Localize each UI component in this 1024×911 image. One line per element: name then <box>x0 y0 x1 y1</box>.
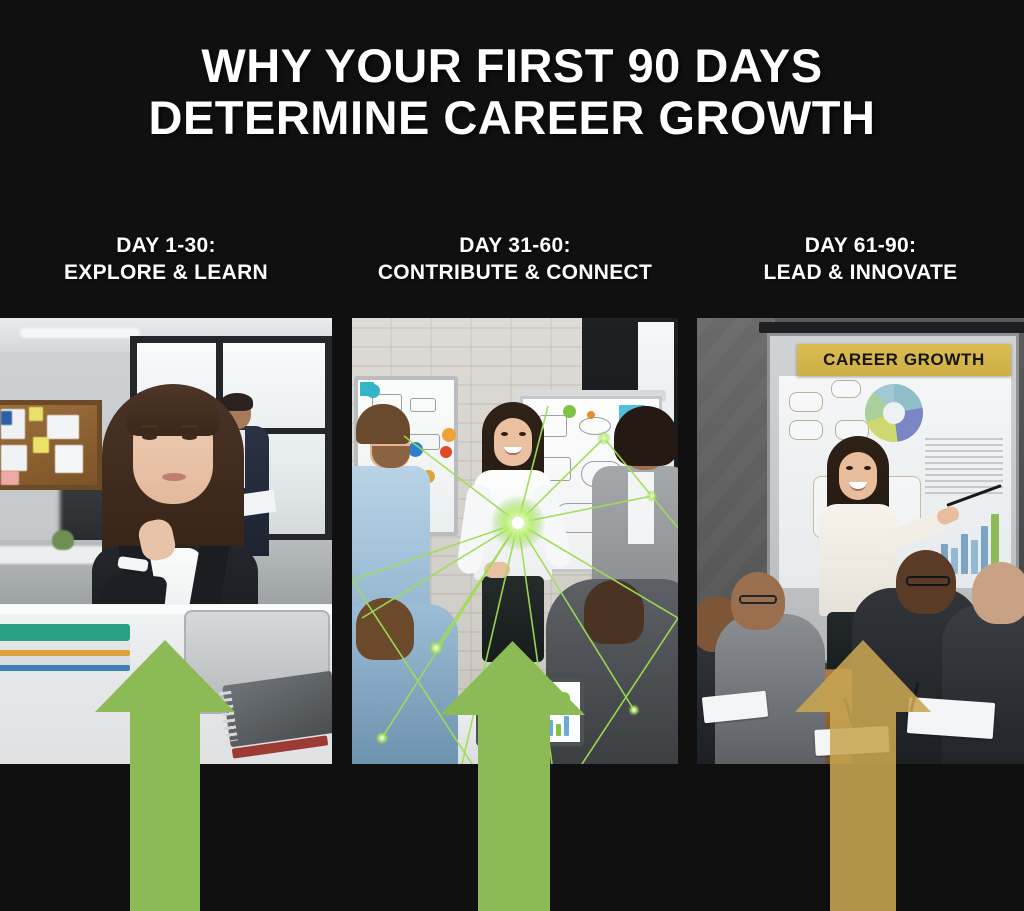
stage-2-heading: DAY 31-60: CONTRIBUTE & CONNECT <box>352 232 678 286</box>
stage-1-heading-line-2: EXPLORE & LEARN <box>0 259 332 286</box>
pinned-paper <box>47 415 79 439</box>
page-title: WHY YOUR FIRST 90 DAYS DETERMINE CAREER … <box>0 40 1024 144</box>
stage-headings: DAY 1-30: EXPLORE & LEARN DAY 31-60: CON… <box>0 232 1024 302</box>
sticky-note-pink <box>1 471 19 485</box>
title-line-1: WHY YOUR FIRST 90 DAYS <box>0 40 1024 92</box>
leader-eye-left <box>846 466 853 470</box>
panel-gutter-2 <box>678 318 697 764</box>
stage-2-heading-line-1: DAY 31-60: <box>352 232 678 259</box>
leader-eye-right <box>864 466 871 470</box>
presenter-hand <box>484 562 510 578</box>
book-teal <box>0 624 130 641</box>
infographic-poster: WHY YOUR FIRST 90 DAYS DETERMINE CAREER … <box>0 0 1024 911</box>
attendee-right-glasses-icon <box>906 576 950 586</box>
attendee-far-right-head <box>972 562 1024 624</box>
presenter-face <box>494 418 532 466</box>
attendee-far-right <box>942 604 1024 764</box>
sticky-note-yellow <box>33 437 49 453</box>
woman-eye-right <box>182 434 197 440</box>
projector-screen-housing <box>759 322 1024 333</box>
stage-3-heading-line-2: LEAD & INNOVATE <box>697 259 1024 286</box>
colleague-right-top <box>628 472 654 544</box>
ceiling-light-icon <box>20 328 140 338</box>
seated-colleague-right-head <box>584 580 644 644</box>
pinned-paper <box>55 445 83 473</box>
slide-diagram-box <box>831 380 861 398</box>
woman-eyebrow-left <box>141 425 158 428</box>
sticky-note-yellow <box>29 407 43 421</box>
slide-pie-chart-hole <box>883 402 905 424</box>
presenter-eye-left <box>501 432 508 436</box>
slide-diagram-box <box>789 392 823 412</box>
stage-2-growth-arrow <box>440 641 585 911</box>
colleague-right-hair <box>614 406 678 466</box>
woman-lips <box>162 473 186 481</box>
panel-gutter-1 <box>332 318 352 764</box>
career-growth-banner-label: CAREER GROWTH <box>823 350 985 370</box>
stage-2-heading-line-2: CONTRIBUTE & CONNECT <box>352 259 678 286</box>
woman-eyebrow-right <box>181 425 198 428</box>
magnet-green <box>563 405 576 418</box>
slide-bar <box>971 540 978 574</box>
stage-3-growth-arrow <box>795 640 931 911</box>
magnet-cyan <box>366 384 380 398</box>
stage-3-heading-line-1: DAY 61-90: <box>697 232 1024 259</box>
colleague-left <box>352 404 434 624</box>
leader-face <box>839 452 877 500</box>
title-line-2: DETERMINE CAREER GROWTH <box>0 92 1024 144</box>
woman-fringe <box>126 386 220 436</box>
stage-1-heading: DAY 1-30: EXPLORE & LEARN <box>0 232 332 286</box>
magnet-red <box>440 446 452 458</box>
pinned-chart <box>1 411 12 425</box>
colleague-left-hair <box>356 404 410 444</box>
stage-1-growth-arrow <box>95 640 235 911</box>
seated-colleague-left-head <box>356 598 414 660</box>
up-arrow-icon <box>95 640 235 911</box>
desk-plant <box>52 530 74 550</box>
career-growth-banner: CAREER GROWTH <box>797 344 1011 376</box>
magnet-orange <box>442 428 456 442</box>
attendee-left-glasses-icon <box>739 595 777 604</box>
slide-bar <box>961 534 968 574</box>
pinned-paper <box>1 445 27 471</box>
stage-1-heading-line-1: DAY 1-30: <box>0 232 332 259</box>
up-arrow-icon <box>440 641 585 911</box>
stage-3-heading: DAY 61-90: LEAD & INNOVATE <box>697 232 1024 286</box>
woman-eye-left <box>142 434 157 440</box>
presenter-eye-right <box>519 432 526 436</box>
up-arrow-icon <box>795 640 931 911</box>
